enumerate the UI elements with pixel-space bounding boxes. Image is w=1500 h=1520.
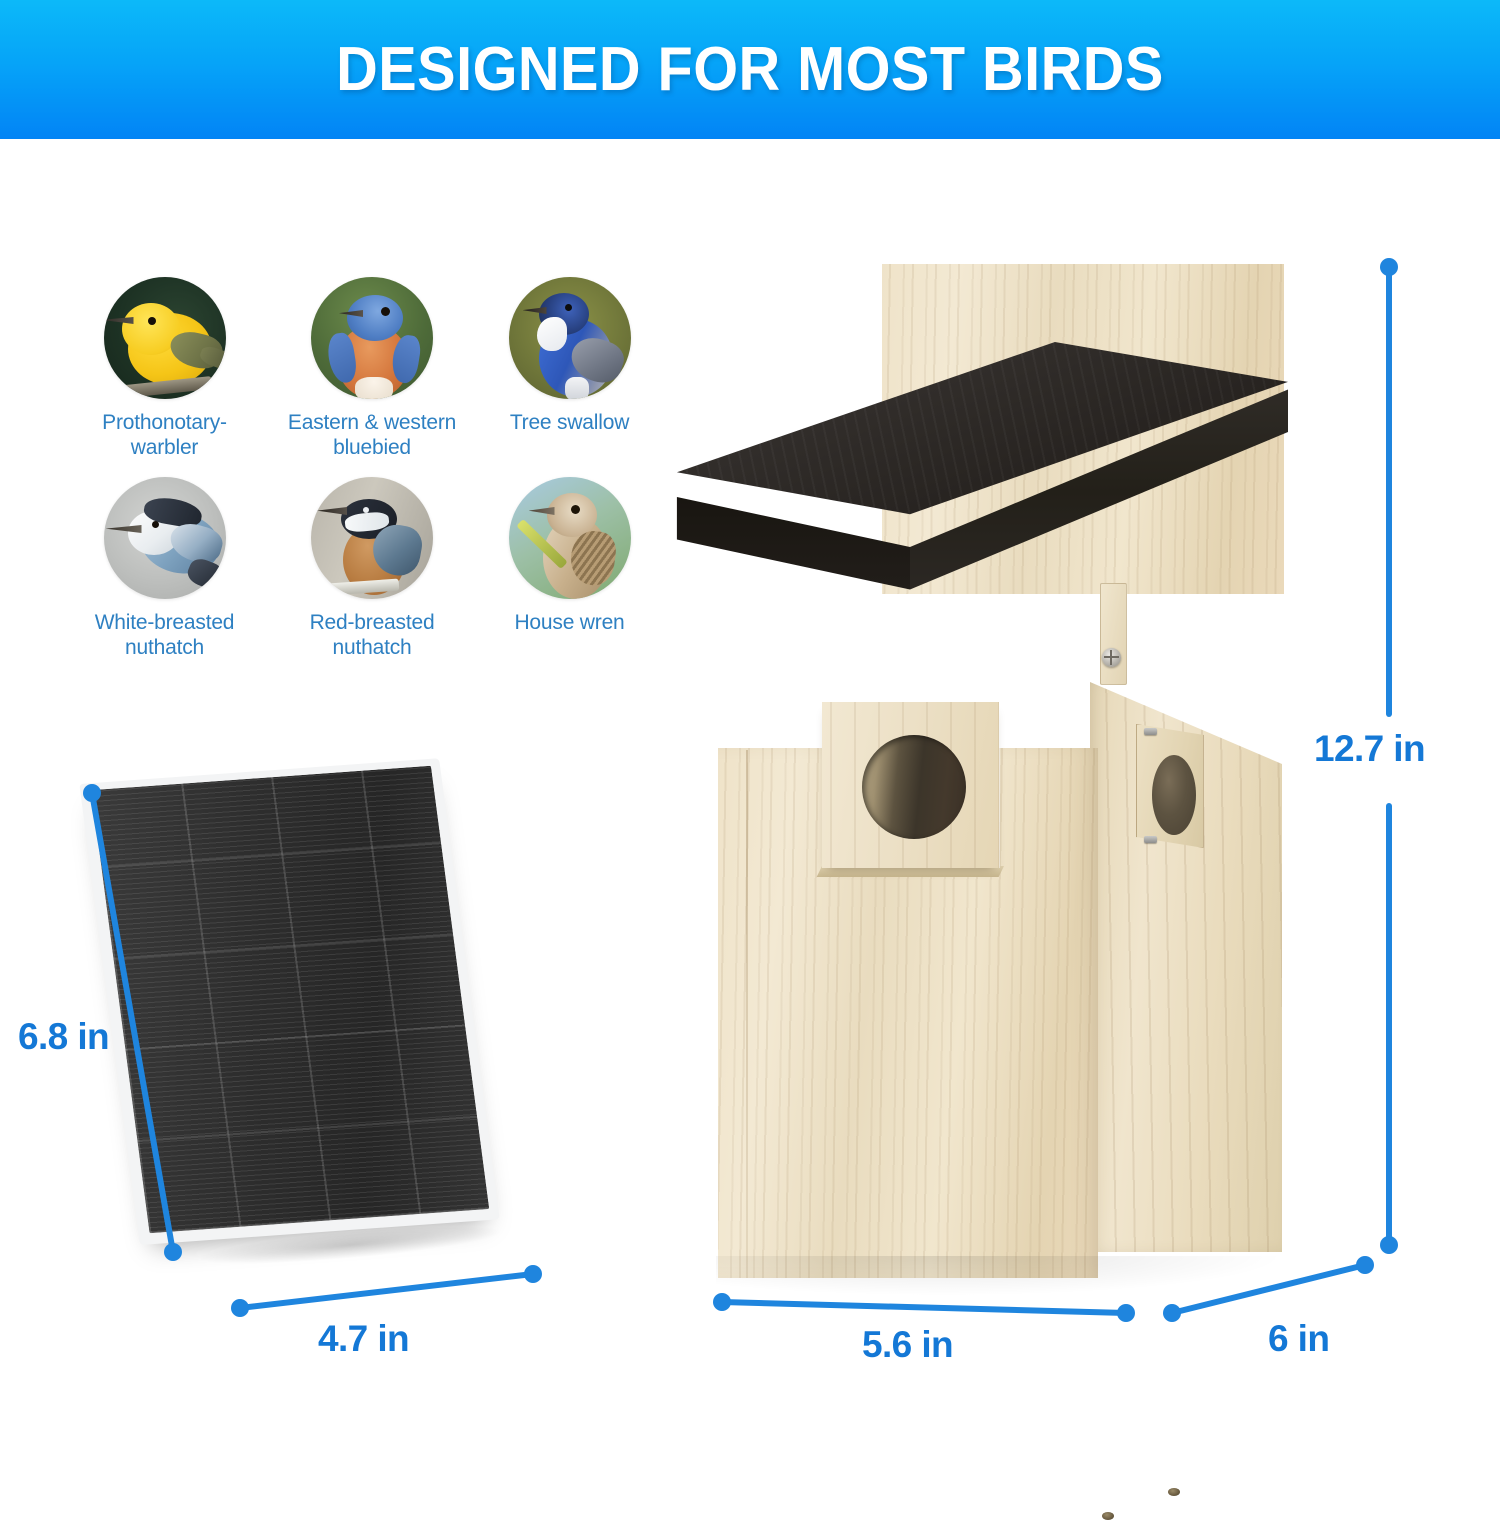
bird-label-line2: warbler — [131, 436, 198, 459]
bird-label-line1: Eastern & western — [288, 411, 456, 434]
birdhouse-base-screw-icon — [1102, 1512, 1114, 1520]
bird-label-line2: nuthatch — [125, 636, 204, 659]
bird-card-white-breasted-nuthatch: White-breasted nuthatch — [62, 477, 267, 677]
bird-label: Eastern & western bluebied — [267, 410, 477, 460]
prothonotary-warbler-photo — [104, 277, 226, 399]
solar-width-label: 4.7 in — [318, 1318, 409, 1360]
bird-card-red-breasted-nuthatch: Red-breasted nuthatch — [267, 477, 477, 677]
camera-plate-screw-icon — [1144, 836, 1157, 843]
header-banner: DESIGNED FOR MOST BIRDS — [0, 0, 1500, 139]
bird-label-line1: White-breasted — [95, 611, 235, 634]
birdhouse-depth-label: 6 in — [1268, 1318, 1329, 1360]
birdhouse-ground-shadow — [716, 1256, 1286, 1296]
bird-label-line1: Red-breasted — [310, 611, 435, 634]
bird-label-line2: bluebied — [333, 436, 411, 459]
bird-card-tree-swallow: Tree swallow — [477, 277, 662, 477]
bird-card-eastern-western-bluebird: Eastern & western bluebied — [267, 277, 477, 477]
birdhouse-height-label: 12.7 in — [1314, 728, 1425, 770]
bird-label-line1: House wren — [514, 611, 624, 634]
birdhouse-entrance-plate — [822, 702, 999, 868]
red-breasted-nuthatch-photo — [311, 477, 433, 599]
bird-label-line2: nuthatch — [333, 636, 412, 659]
solar-height-label: 6.8 in — [18, 1016, 109, 1058]
tree-swallow-photo — [509, 277, 631, 399]
white-breasted-nuthatch-photo — [104, 477, 226, 599]
house-wren-photo — [509, 477, 631, 599]
page-title: DESIGNED FOR MOST BIRDS — [336, 34, 1164, 105]
camera-plate-screw-icon — [1144, 728, 1157, 735]
solar-panel-cells — [91, 766, 489, 1234]
hinge-screw-icon — [1102, 648, 1121, 667]
bird-label: House wren — [477, 610, 662, 635]
bird-card-prothonotary-warbler: Prothonotary- warbler — [62, 277, 267, 477]
solar-width-dimension — [231, 1265, 542, 1317]
birdhouse-front-seam — [746, 750, 748, 1278]
bird-label: White-breasted nuthatch — [62, 610, 267, 660]
bird-label-line1: Prothonotary- — [102, 411, 227, 434]
bird-label: Tree swallow — [477, 410, 662, 435]
bird-label: Prothonotary- warbler — [62, 410, 267, 460]
eastern-western-bluebird-photo — [311, 277, 433, 399]
bird-card-house-wren: House wren — [477, 477, 662, 677]
wooden-birdhouse — [650, 250, 1350, 1310]
birdhouse-camera-opening — [1152, 755, 1196, 835]
solar-panel — [140, 780, 535, 1270]
solar-panel-frame — [79, 758, 499, 1245]
bird-label: Red-breasted nuthatch — [267, 610, 477, 660]
bird-label-line1: Tree swallow — [510, 411, 629, 434]
birdhouse-width-label: 5.6 in — [862, 1324, 953, 1366]
bird-species-grid: Prothonotary- warbler Eastern & western … — [62, 277, 662, 677]
birdhouse-hinge — [1100, 583, 1127, 685]
birdhouse-entrance-hole — [862, 735, 966, 839]
birdhouse-base-screw-icon — [1168, 1488, 1180, 1496]
